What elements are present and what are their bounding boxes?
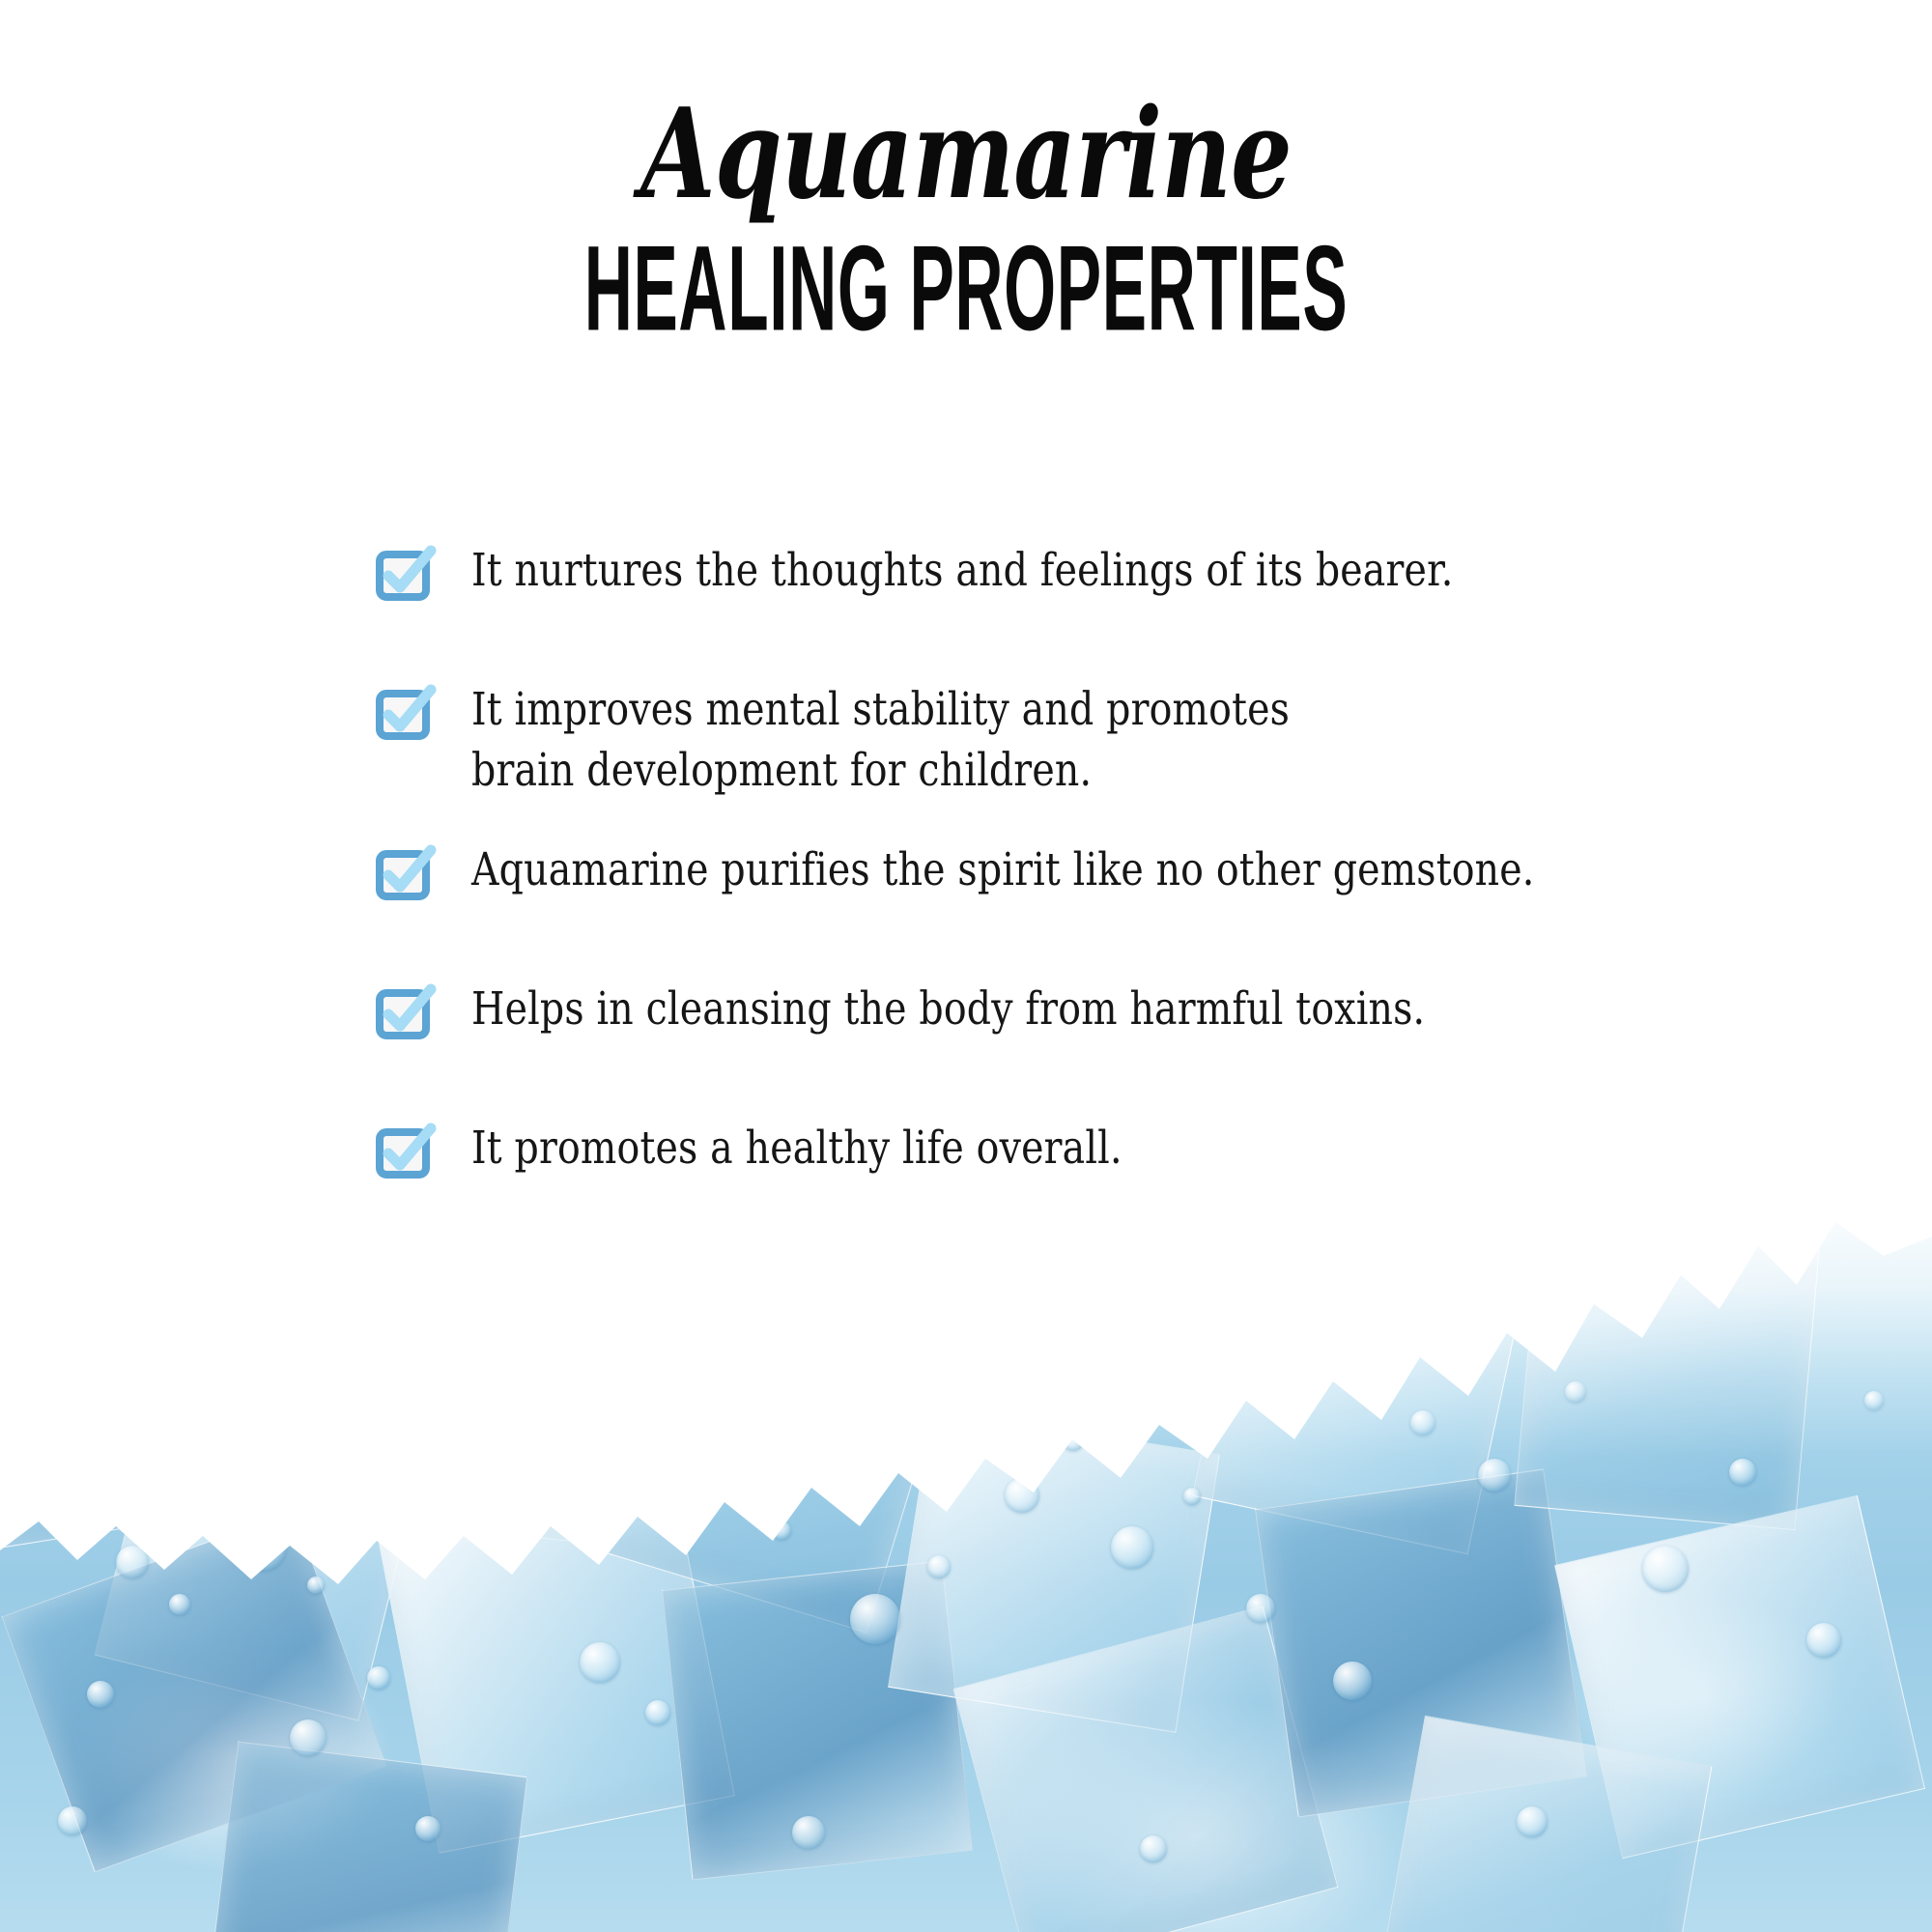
ice-bubble [645, 1700, 670, 1725]
ice-bubble [1806, 1623, 1841, 1658]
ice-bubble [1183, 1488, 1201, 1505]
ice-bubble [454, 1430, 483, 1459]
ice-shard [307, 1281, 593, 1541]
ice-bubble [1478, 1459, 1511, 1492]
ice-bubble [1410, 1410, 1435, 1435]
ice-cubes-photo [0, 1140, 1932, 1932]
healing-properties-list: It nurtures the thoughts and feelings of… [377, 541, 1787, 1182]
ice-bubble [169, 1594, 190, 1615]
ice-bubble [1729, 1459, 1756, 1486]
page-title: Aquamarine [213, 0, 1719, 216]
ice-bubble [241, 1526, 286, 1571]
ice-bubble [1642, 1546, 1689, 1592]
ice-bubble [502, 1483, 522, 1502]
ice-bubble [1864, 1391, 1884, 1410]
ice-bubble [580, 1642, 620, 1683]
checked-checkbox-icon [377, 1126, 433, 1182]
list-item-label: Aquamarine purifies the spirit like no o… [471, 840, 1535, 901]
ice-bubble [792, 1816, 825, 1849]
list-item-label: It promotes a healthy life overall. [471, 1119, 1122, 1179]
ice-bubble [720, 1459, 751, 1490]
list-item-label: It nurtures the thoughts and feelings of… [471, 541, 1454, 602]
ice-bubble [290, 1719, 327, 1756]
checked-checkbox-icon [377, 848, 433, 904]
ice-bubble [367, 1666, 390, 1690]
list-item-label: It improves mental stability and promote… [471, 680, 1290, 802]
ice-bubble [850, 1594, 900, 1644]
list-item: It promotes a healthy life overall. [377, 1119, 1787, 1182]
list-item: It nurtures the thoughts and feelings of… [377, 541, 1787, 605]
ice-bubble [1111, 1526, 1153, 1569]
ice-bubble [773, 1521, 791, 1540]
ice-bubble [1140, 1835, 1167, 1862]
ice-bubble [415, 1816, 440, 1841]
checked-checkbox-icon [377, 549, 433, 605]
list-item: Helps in cleansing the body from harmful… [377, 980, 1787, 1043]
ice-bubble [58, 1806, 87, 1835]
list-item: It improves mental stability and promote… [377, 680, 1787, 802]
ice-bubble [1005, 1478, 1039, 1513]
checked-checkbox-icon [377, 688, 433, 744]
ice-bubble [1565, 1381, 1586, 1403]
list-item: Aquamarine purifies the spirit like no o… [377, 840, 1787, 904]
ice-bubble [1246, 1594, 1275, 1623]
poster-canvas: Aquamarine HEALING PROPERTIES It nurture… [0, 0, 1932, 1932]
ice-shard [1514, 1215, 1820, 1530]
checked-checkbox-icon [377, 987, 433, 1043]
list-item-label: Helps in cleansing the body from harmful… [471, 980, 1425, 1040]
ice-bubble [1333, 1662, 1372, 1700]
ice-bubble [87, 1681, 114, 1708]
ice-bubble [1517, 1806, 1548, 1837]
ice-bubble [307, 1577, 325, 1594]
header: Aquamarine HEALING PROPERTIES [0, 0, 1932, 342]
ice-bubble [1063, 1430, 1084, 1451]
ice-bubble [927, 1555, 951, 1578]
page-subtitle: HEALING PROPERTIES [367, 209, 1565, 350]
ice-bubble [116, 1546, 149, 1578]
